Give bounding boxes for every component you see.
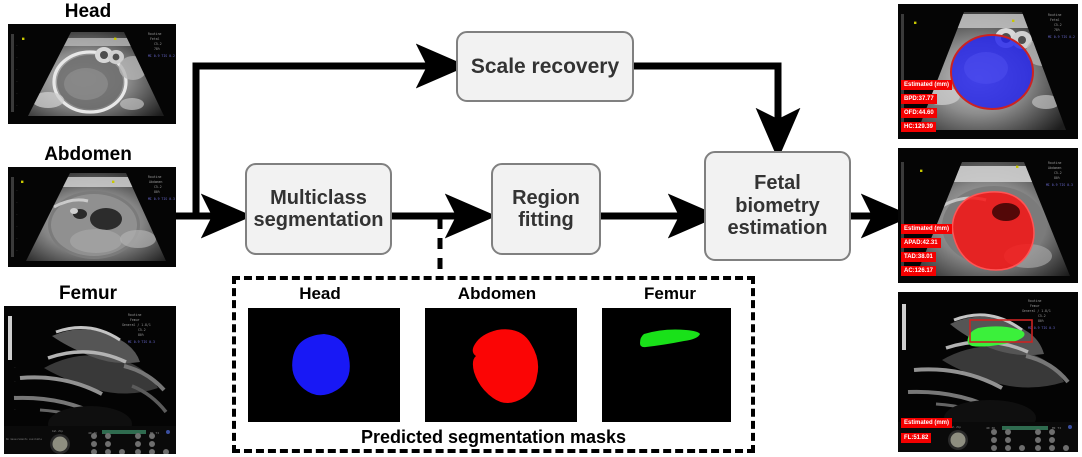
svg-text:Cal Zip: Cal Zip (52, 429, 63, 433)
svg-text:Femur: Femur (1030, 304, 1040, 308)
svg-text:-: - (14, 379, 16, 383)
svg-text:Fetal: Fetal (150, 37, 160, 41)
process-box-multiclass-segmentation[interactable]: Multiclass segmentation (245, 163, 392, 255)
mask-label-head: Head (244, 285, 396, 302)
svg-text:Routine: Routine (1048, 161, 1062, 165)
svg-text:-: - (16, 236, 18, 240)
fetal-biometry-label-line2: biometry (727, 195, 827, 217)
head-measurement-hc: HC:129.39 (901, 122, 936, 132)
scale-recovery-label: Scale recovery (471, 55, 619, 79)
svg-text:Routine: Routine (148, 175, 162, 179)
abdomen-measurement-tad: TAD:38.01 (901, 252, 936, 262)
svg-text:80%: 80% (1038, 319, 1044, 323)
svg-text:Routine: Routine (1028, 299, 1042, 303)
mask-image-abdomen (425, 308, 577, 422)
predicted-masks-panel: Head Abdomen Femur Predicted segmentatio… (232, 276, 755, 453)
head-overlay (951, 35, 1033, 109)
svg-text:C5-2: C5-2 (1054, 23, 1062, 27)
output-image-head: ■■ RoutineFetal C5-278% MI 0.9 TIS 0.2 E… (898, 4, 1078, 139)
svg-text:-: - (16, 43, 18, 47)
svg-text:78%: 78% (1054, 28, 1060, 32)
abdomen-overlay (952, 192, 1034, 270)
multiclass-segmentation-label-line2: segmentation (253, 209, 383, 231)
head-measurement-bpd: BPD:37.77 (901, 94, 937, 104)
pipeline-figure: Head (0, 0, 1082, 457)
svg-text:General / 1.8/1: General / 1.8/1 (122, 323, 151, 327)
svg-text:80%: 80% (154, 190, 160, 194)
svg-text:No measurements available: No measurements available (6, 438, 43, 441)
svg-text:C5-2: C5-2 (1054, 171, 1062, 175)
process-box-fetal-biometry-estimation[interactable]: Fetal biometry estimation (704, 151, 851, 261)
input-image-femur: RoutineFemur General / 1.8/1 C5-280% MI … (4, 306, 176, 454)
svg-text:C5-2: C5-2 (154, 185, 162, 189)
input-label-head: Head (0, 2, 176, 21)
input-image-abdomen: ■■ RoutineAbdomen C5-280% MI 0.9 TIS 0.3… (8, 167, 176, 267)
svg-text:Routine: Routine (1048, 13, 1062, 17)
svg-text:80%: 80% (138, 333, 144, 337)
abdomen-estimated-header: Estimated (mm) (901, 224, 952, 234)
svg-text:78%: 78% (154, 47, 160, 51)
svg-text:MI 0.9 TIS 0.2: MI 0.9 TIS 0.2 (1048, 35, 1075, 39)
mask-label-femur: Femur (594, 285, 746, 302)
head-measurement-ofd: OFD:44.60 (901, 108, 937, 118)
head-estimated-header: Estimated (mm) (901, 80, 952, 90)
svg-text:General / 1.8/1: General / 1.8/1 (1022, 309, 1051, 313)
svg-text:-: - (16, 248, 18, 252)
svg-text:-: - (16, 55, 18, 59)
svg-text:Abdomen: Abdomen (149, 180, 163, 184)
input-label-abdomen: Abdomen (0, 145, 176, 164)
svg-text:-: - (16, 188, 18, 192)
svg-text:MI 0.9 TIS 0.3: MI 0.9 TIS 0.3 (128, 340, 155, 344)
svg-text:-: - (16, 224, 18, 228)
svg-text:Image 1 Cine: Image 1 Cine (49, 453, 68, 454)
fetal-biometry-label-line3: estimation (727, 217, 827, 239)
mask-label-abdomen: Abdomen (421, 285, 573, 302)
region-fitting-label-line2: fitting (512, 209, 580, 231)
svg-text:Routine: Routine (128, 313, 142, 317)
svg-text:-: - (16, 67, 18, 71)
svg-text:MI 0.9 TIS 0.3: MI 0.9 TIS 0.3 (148, 197, 175, 201)
svg-text:-: - (16, 91, 18, 95)
abdomen-measurement-apad: APAD:42.31 (901, 238, 941, 248)
svg-text:C5-2: C5-2 (138, 328, 146, 332)
svg-text:Routine: Routine (148, 32, 162, 36)
fetal-biometry-label-line1: Fetal (727, 172, 827, 194)
svg-text:-: - (14, 393, 16, 397)
svg-text:80%: 80% (1054, 176, 1060, 180)
abdomen-measurement-ac: AC:126.17 (901, 266, 936, 276)
svg-text:MI 0.9 TIS 0.3: MI 0.9 TIS 0.3 (1028, 326, 1055, 330)
svg-text:-: - (14, 365, 16, 369)
mask-image-head (248, 308, 400, 422)
process-box-scale-recovery[interactable]: Scale recovery (456, 31, 634, 102)
input-label-femur: Femur (0, 284, 176, 303)
svg-text:C5-2: C5-2 (154, 42, 162, 46)
multiclass-segmentation-label-line1: Multiclass (253, 187, 383, 209)
svg-text:C5-2: C5-2 (1038, 314, 1046, 318)
input-image-head: ■■ RoutineFetal C5-278% MI 0.9 TIS 0.2 -… (8, 24, 176, 124)
svg-text:-: - (16, 79, 18, 83)
predicted-masks-footer-label: Predicted segmentation masks (236, 428, 751, 446)
svg-text:-: - (16, 103, 18, 107)
output-image-femur: RoutineFemur General / 1.8/1 C5-280% MI … (898, 292, 1078, 452)
svg-text:MI 0.9 TIS 0.3: MI 0.9 TIS 0.3 (1046, 183, 1073, 187)
femur-measurement-fl: FL:51.82 (901, 433, 931, 443)
svg-text:-: - (16, 212, 18, 216)
svg-text:-: - (16, 200, 18, 204)
arrow-scale-recovery-to-biometry (634, 66, 778, 140)
process-box-region-fitting[interactable]: Region fitting (491, 163, 601, 255)
svg-text:-: - (14, 407, 16, 411)
svg-text:Femur: Femur (130, 318, 140, 322)
mask-image-femur (602, 308, 731, 422)
region-fitting-label-line1: Region (512, 187, 580, 209)
output-image-abdomen: ■■ RoutineAbdomen C5-280% MI 0.9 TIS 0.3… (898, 148, 1078, 283)
svg-text:MI 0.9 TIS 0.2: MI 0.9 TIS 0.2 (148, 54, 175, 58)
svg-text:Fetal: Fetal (1050, 18, 1060, 22)
femur-estimated-header: Estimated (mm) (901, 418, 952, 428)
svg-text:Abdomen: Abdomen (1048, 166, 1062, 170)
